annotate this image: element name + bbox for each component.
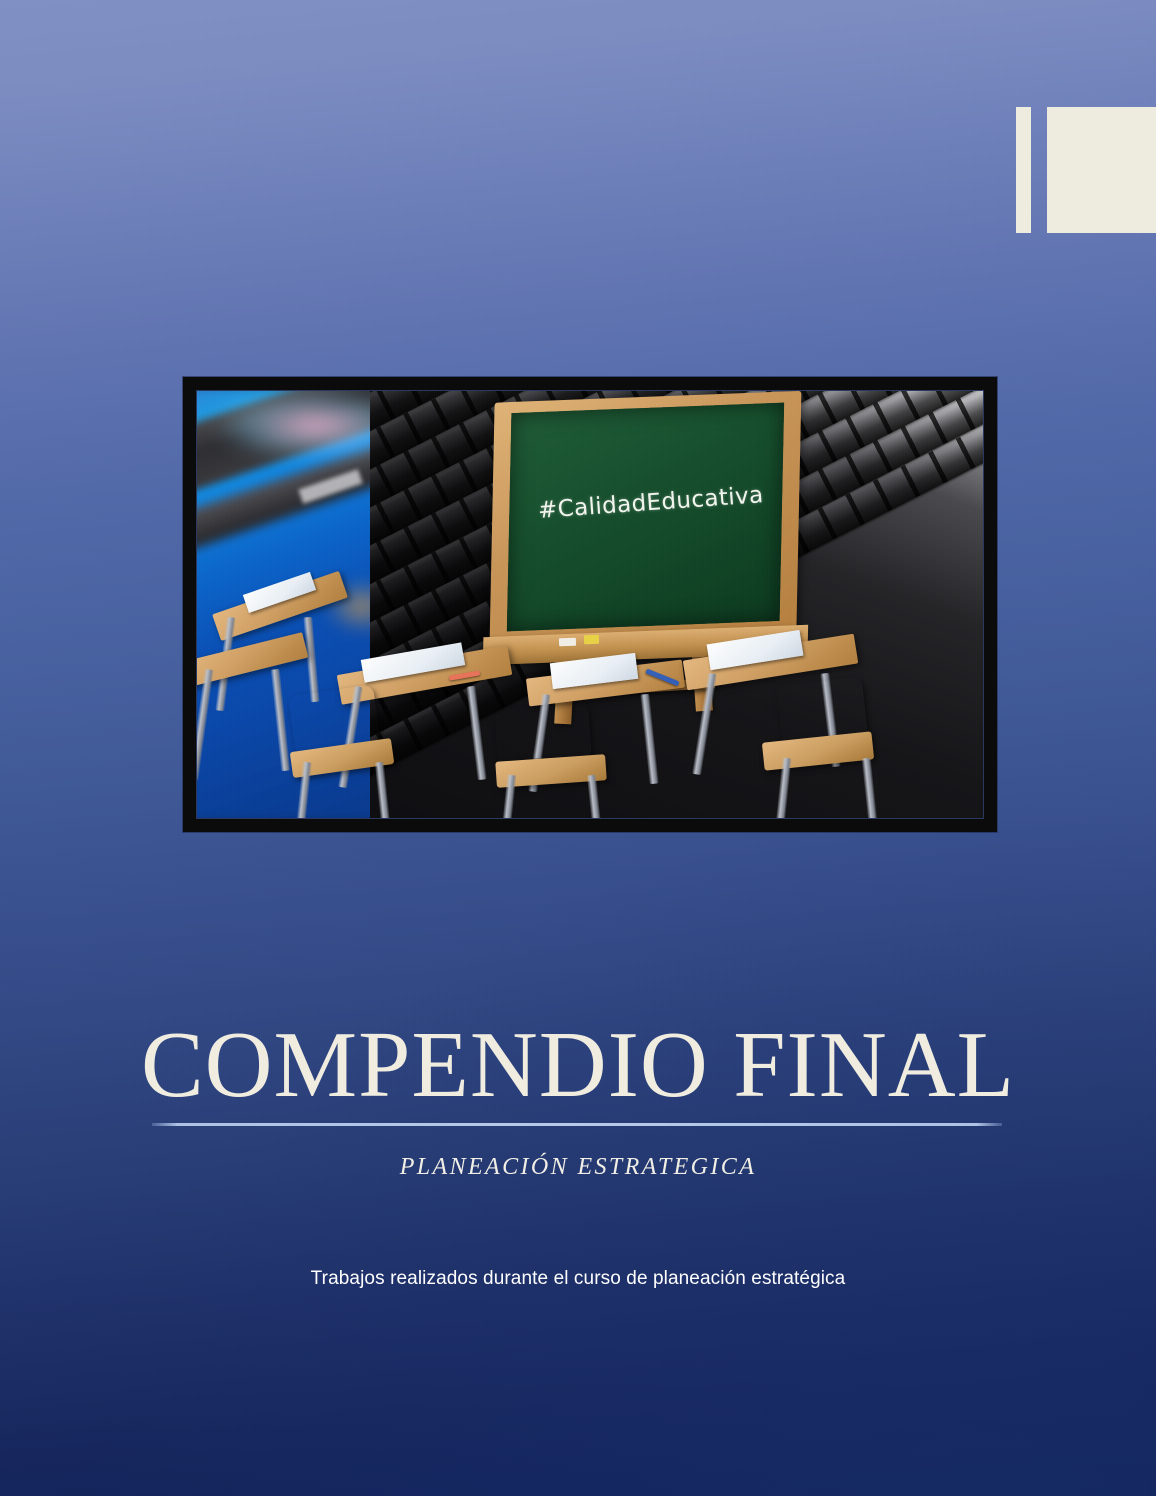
page-description: Trabajos realizados durante el curso de … [0, 1268, 1156, 1290]
page-title: COMPENDIO FINAL [0, 1018, 1156, 1112]
document-cover-page: #CalidadEducativa [0, 0, 1156, 1496]
page-subtitle: PLANEACIÓN ESTRATEGICA [0, 1154, 1156, 1181]
chalk-white [559, 638, 576, 647]
cover-image: #CalidadEducativa [196, 390, 984, 819]
cover-image-frame: #CalidadEducativa [183, 377, 997, 832]
chalk-yellow [584, 635, 600, 644]
header-decoration [1016, 107, 1156, 233]
decoration-block [1047, 107, 1156, 233]
decoration-narrow-bar [1016, 107, 1031, 233]
title-divider [152, 1123, 1002, 1126]
chair-back [494, 704, 592, 762]
